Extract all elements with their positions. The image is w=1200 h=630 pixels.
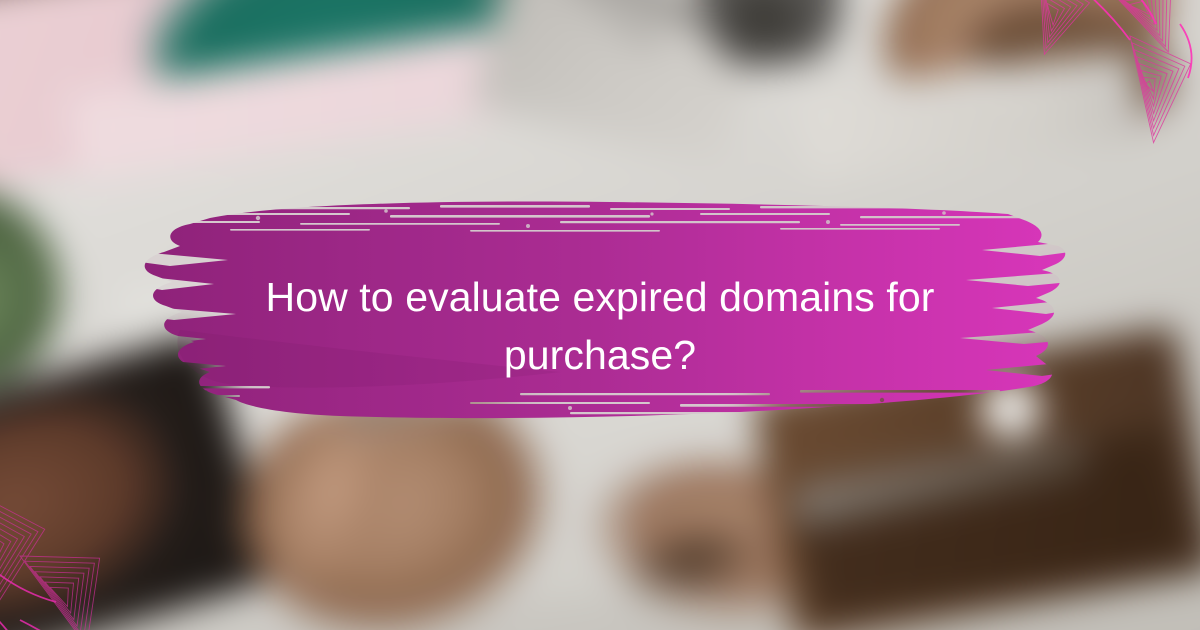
page-title: How to evaluate expired domains for purc… [230,268,970,384]
featured-image-canvas: How to evaluate expired domains for purc… [0,0,1200,630]
